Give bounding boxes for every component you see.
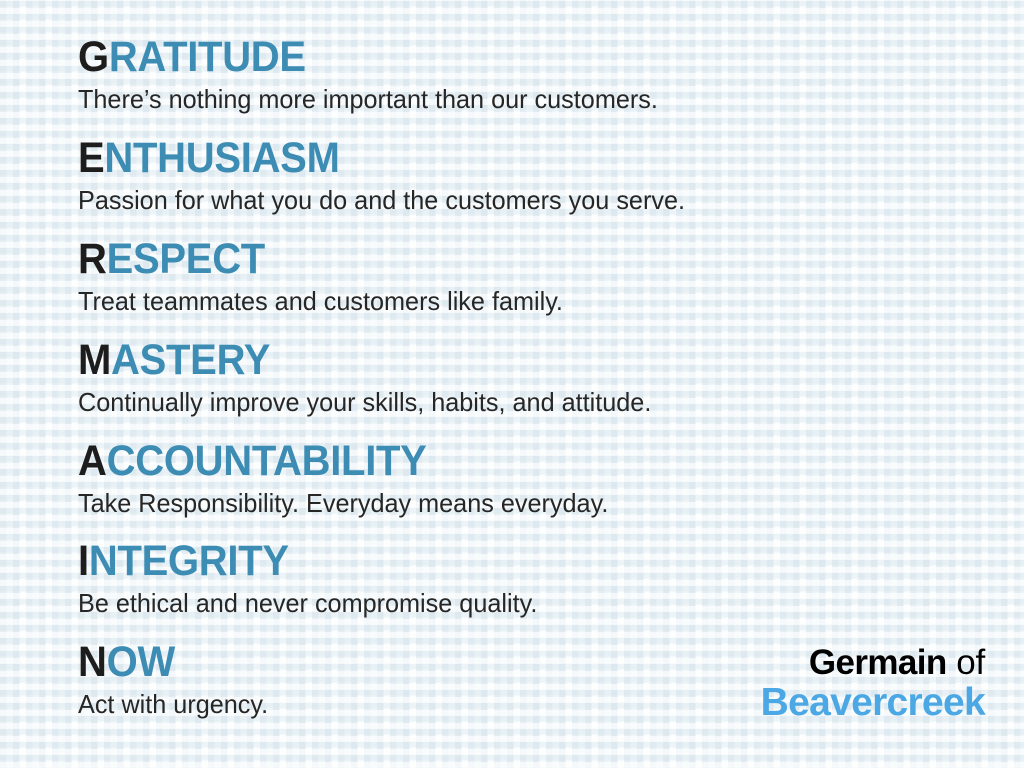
value-item-integrity: INTEGRITY Be ethical and never compromis… [78,540,984,619]
value-heading: RESPECT [78,238,921,281]
value-subtitle: Take Responsibility. Everyday means ever… [78,489,957,519]
dealership-logo: Germain of Beavercreek [761,645,985,722]
values-poster: GRATITUDE There’s nothing more important… [0,0,1024,768]
value-heading: GRATITUDE [78,36,921,79]
value-item-enthusiasm: ENTHUSIASM Passion for what you do and t… [78,137,984,216]
value-heading-rest: NTHUSIASM [104,134,339,182]
value-heading-rest: OW [107,638,175,686]
value-heading: ACCOUNTABILITY [78,440,921,483]
value-heading-rest: CCOUNTABILITY [107,437,427,485]
value-item-accountability: ACCOUNTABILITY Take Responsibility. Ever… [78,440,984,519]
value-subtitle: Treat teammates and customers like famil… [78,287,957,317]
logo-connector: of [947,643,985,682]
value-subtitle: There’s nothing more important than our … [78,85,957,115]
value-subtitle: Be ethical and never compromise quality. [78,589,957,619]
value-heading-initial: R [78,235,107,283]
logo-brand-line: Germain of [761,645,985,680]
value-heading-initial: I [78,537,89,585]
value-heading: INTEGRITY [78,540,921,583]
value-heading-rest: ASTERY [111,336,270,384]
value-heading-rest: RATITUDE [109,33,306,81]
value-heading-initial: E [78,134,104,182]
value-heading-initial: G [78,33,109,81]
value-heading-initial: A [78,437,107,485]
value-subtitle: Passion for what you do and the customer… [78,186,957,216]
value-heading: MASTERY [78,339,921,382]
value-heading-rest: ESPECT [107,235,265,283]
value-item-mastery: MASTERY Continually improve your skills,… [78,339,984,418]
logo-brand-name: Germain [809,643,947,682]
value-item-respect: RESPECT Treat teammates and customers li… [78,238,984,317]
value-heading-rest: NTEGRITY [89,537,289,585]
value-heading-initial: M [78,336,111,384]
value-heading-initial: N [78,638,107,686]
value-subtitle: Continually improve your skills, habits,… [78,388,957,418]
value-item-gratitude: GRATITUDE There’s nothing more important… [78,36,984,115]
value-heading: ENTHUSIASM [78,137,921,180]
logo-location: Beavercreek [761,683,985,722]
